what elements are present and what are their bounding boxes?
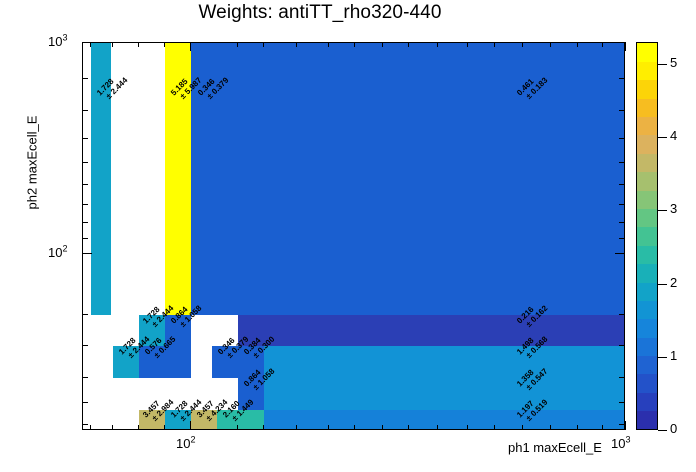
x-tick-minor [494, 425, 495, 430]
color-scale-band [637, 135, 657, 154]
x-tick-minor [522, 425, 523, 430]
x-tick-minor [90, 425, 91, 430]
y-tick-minor-right [619, 78, 625, 79]
x-tick-label: 102 [176, 435, 195, 451]
color-scale-band [637, 117, 657, 136]
heatmap-cell [191, 43, 625, 315]
y-tick-major [82, 253, 92, 254]
color-scale-tick-label: 4 [670, 128, 677, 143]
x-tick-minor-top [494, 42, 495, 47]
x-tick-minor-top [328, 42, 329, 47]
x-tick-minor [467, 425, 468, 430]
color-scale-tick-label: 2 [670, 275, 677, 290]
y-tick-minor-right [619, 184, 625, 185]
color-scale-band [637, 319, 657, 338]
color-scale-tick-label: 1 [670, 348, 677, 363]
x-tick-minor [437, 425, 438, 430]
y-tick-minor [82, 222, 88, 223]
y-tick-minor [82, 238, 88, 239]
y-tick-minor-right [619, 402, 625, 403]
x-tick-minor [138, 425, 139, 430]
root-canvas: Weights: antiTT_rho320-440 ph2 maxEcell_… [0, 0, 696, 472]
y-tick-minor-right [619, 345, 625, 346]
y-tick-minor-right [619, 138, 625, 139]
x-tick-label: 103 [611, 435, 630, 451]
y-tick-minor [82, 345, 88, 346]
color-scale-band [637, 355, 657, 374]
color-scale-tick [658, 210, 667, 211]
color-scale-tick [658, 284, 667, 285]
color-scale-tick [658, 357, 667, 358]
color-scale-tick [658, 430, 667, 431]
color-scale-band [637, 227, 657, 246]
y-tick-minor-right [619, 238, 625, 239]
color-scale-band [637, 374, 657, 393]
y-tick-minor-right [619, 222, 625, 223]
y-tick-minor [82, 138, 88, 139]
color-scale-band [637, 208, 657, 227]
x-tick-minor-top [164, 42, 165, 47]
x-tick-minor [382, 425, 383, 430]
y-tick-minor [82, 314, 88, 315]
heatmap-cell [264, 346, 625, 378]
x-tick-minor-top [602, 42, 603, 47]
y-tick-minor [82, 424, 88, 425]
color-scale-tick-label: 5 [670, 55, 677, 70]
y-tick-label: 102 [48, 244, 67, 260]
y-tick-minor-right [619, 110, 625, 111]
color-scale-band [637, 411, 657, 430]
x-tick-minor [408, 425, 409, 430]
x-tick-minor [263, 425, 264, 430]
y-tick-label: 103 [48, 33, 67, 49]
y-tick-minor [82, 78, 88, 79]
x-tick-minor-top [112, 42, 113, 47]
color-scale-band [637, 153, 657, 172]
y-axis-title: ph2 maxEcell_E [25, 93, 40, 233]
y-tick-minor-right [619, 314, 625, 315]
x-tick-major [190, 421, 191, 430]
y-tick-major-right [615, 42, 625, 43]
x-tick-minor [237, 425, 238, 430]
x-tick-minor-top [577, 42, 578, 47]
y-tick-major-right [615, 253, 625, 254]
x-tick-minor [550, 425, 551, 430]
x-tick-minor-top [354, 42, 355, 47]
x-tick-minor-top [437, 42, 438, 47]
x-tick-minor-top [263, 42, 264, 47]
y-tick-minor [82, 377, 88, 378]
y-tick-minor [82, 184, 88, 185]
color-scale-bar [636, 42, 658, 430]
color-scale-band [637, 264, 657, 283]
x-tick-minor [328, 425, 329, 430]
color-scale-band [637, 61, 657, 80]
y-tick-major [82, 42, 92, 43]
color-scale-band [637, 190, 657, 209]
x-tick-major [625, 421, 626, 430]
x-tick-minor-top [237, 42, 238, 47]
heatmap-cell [264, 378, 625, 410]
plot-area[interactable]: 1.728± 2.4445.185± 5.9870.346± 0.3790.46… [82, 42, 625, 430]
y-tick-minor-right [619, 162, 625, 163]
color-scale-band [637, 300, 657, 319]
color-scale-tick-label: 3 [670, 201, 677, 216]
x-tick-minor [164, 425, 165, 430]
color-scale-band [637, 43, 657, 62]
color-scale-band [637, 80, 657, 99]
x-tick-minor-top [382, 42, 383, 47]
x-tick-minor [296, 425, 297, 430]
color-scale-tick [658, 64, 667, 65]
color-scale-band [637, 337, 657, 356]
x-tick-minor-top [296, 42, 297, 47]
x-tick-major-top [190, 42, 191, 51]
x-axis-title: ph1 maxEcell_E [508, 440, 602, 455]
color-scale-band [637, 282, 657, 301]
x-tick-minor-top [138, 42, 139, 47]
heatmap-cell [264, 410, 625, 430]
x-tick-minor-top [522, 42, 523, 47]
color-scale-tick-label: 0 [670, 421, 677, 436]
color-scale-band [637, 392, 657, 411]
heatmap-cell [238, 315, 625, 346]
x-tick-minor-top [408, 42, 409, 47]
color-scale-tick [658, 137, 667, 138]
x-tick-minor [577, 425, 578, 430]
color-scale-band [637, 172, 657, 191]
x-tick-minor [112, 425, 113, 430]
color-scale-band [637, 98, 657, 117]
x-tick-major-top [625, 42, 626, 51]
x-tick-minor [354, 425, 355, 430]
y-tick-minor-right [619, 377, 625, 378]
color-scale-band [637, 245, 657, 264]
y-tick-minor [82, 402, 88, 403]
x-tick-minor-top [550, 42, 551, 47]
y-tick-minor [82, 162, 88, 163]
page-title: Weights: antiTT_rho320-440 [0, 2, 640, 24]
y-tick-minor [82, 204, 88, 205]
x-tick-minor-top [467, 42, 468, 47]
y-tick-minor [82, 110, 88, 111]
x-tick-minor [602, 425, 603, 430]
y-tick-minor-right [619, 204, 625, 205]
y-tick-minor-right [619, 424, 625, 425]
